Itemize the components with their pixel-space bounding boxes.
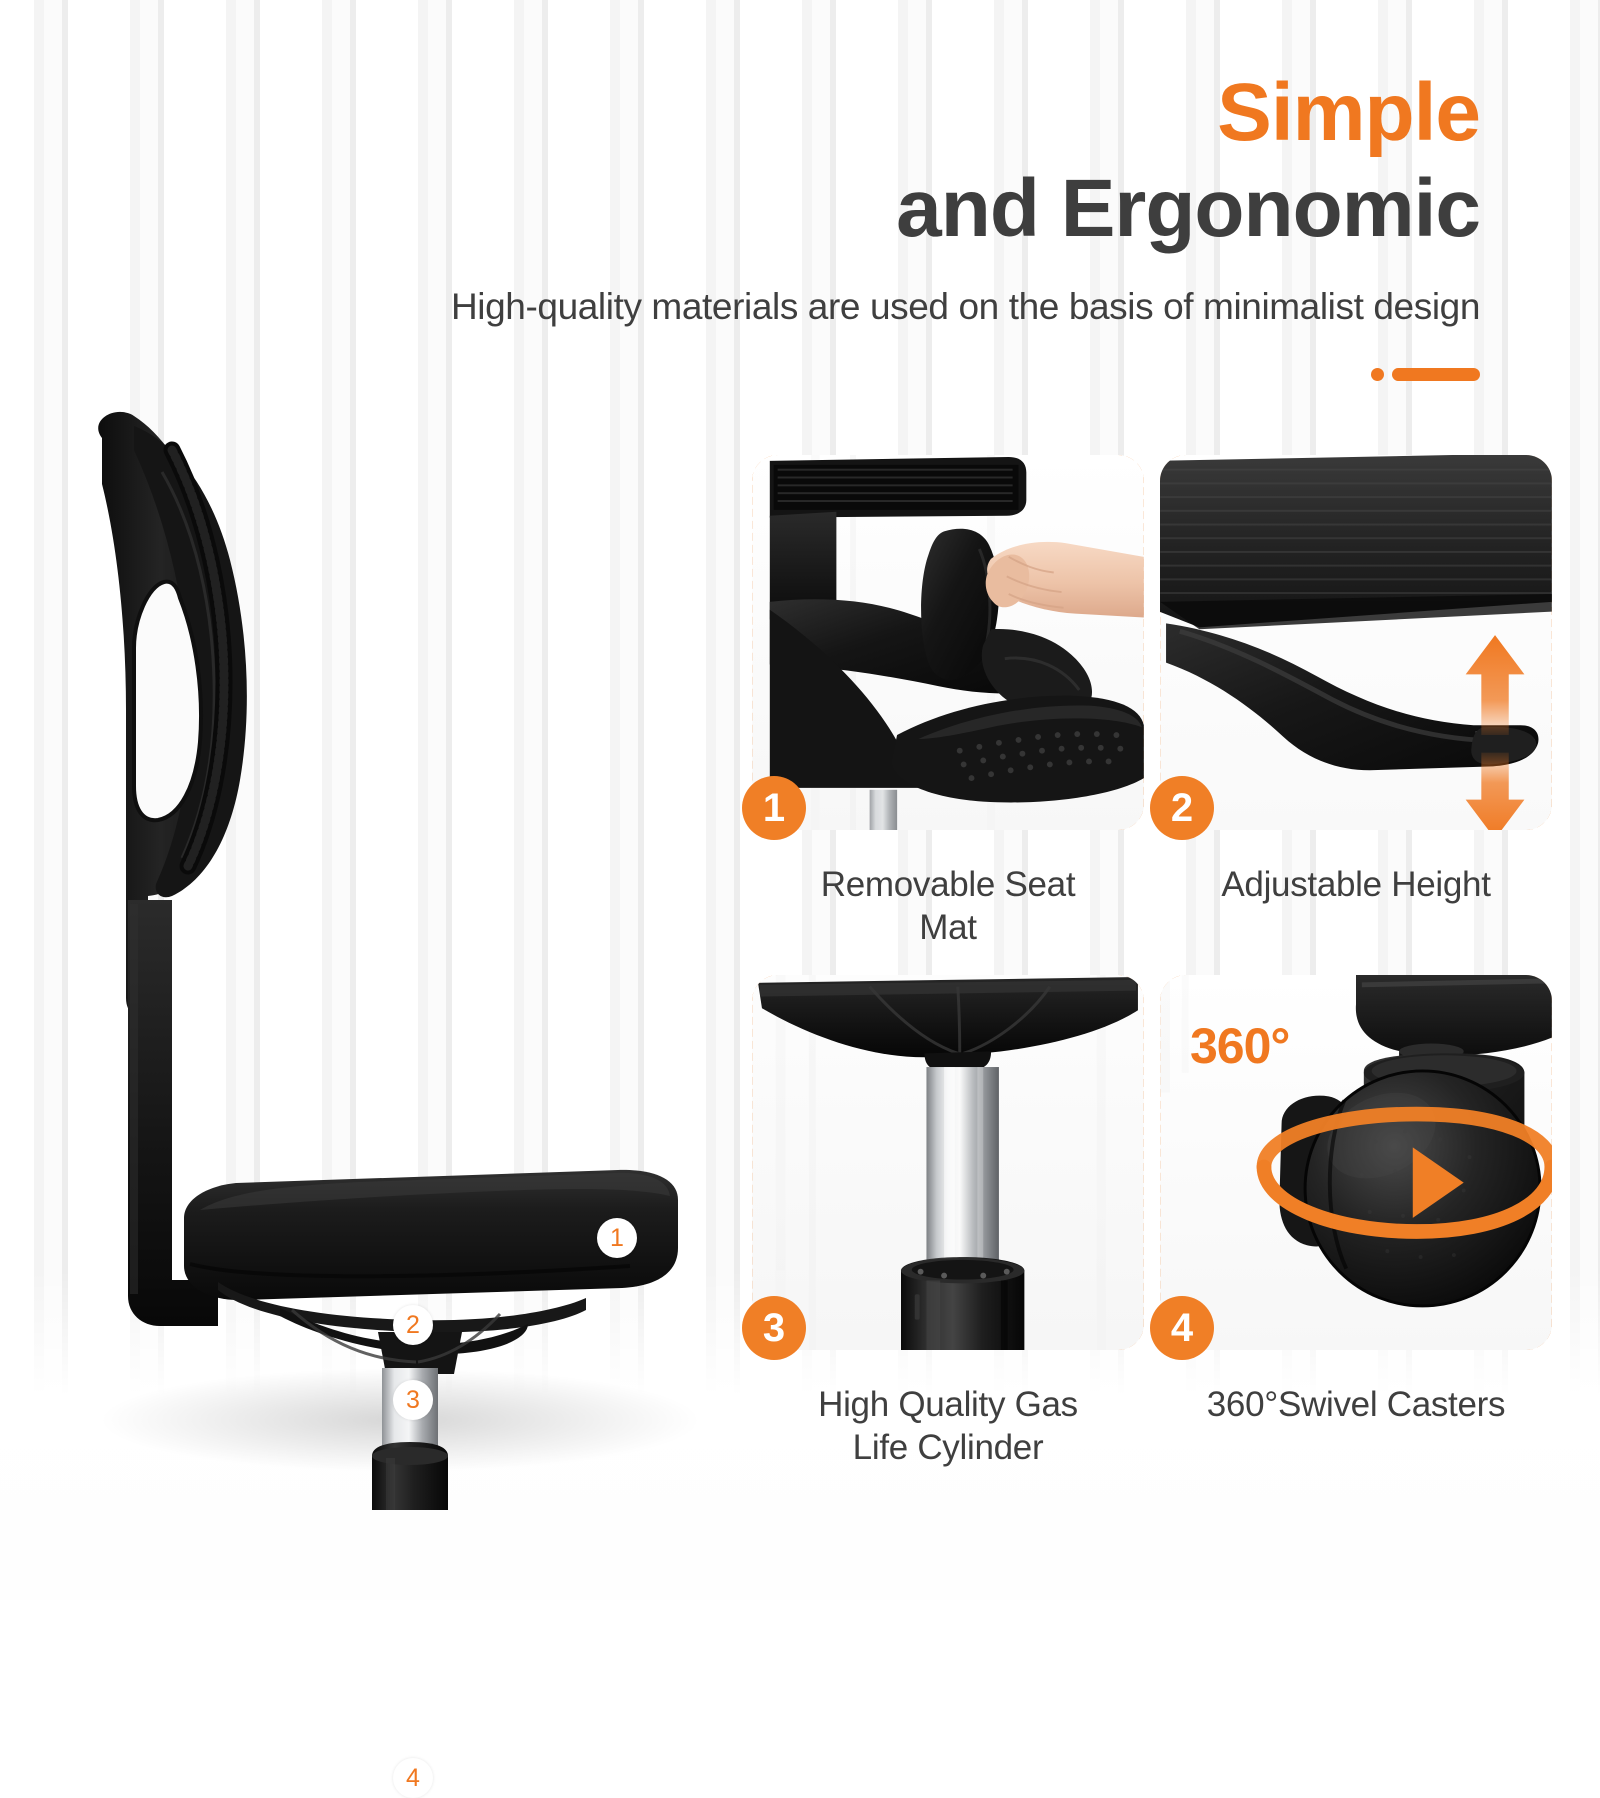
feature-badge-3: 3 xyxy=(742,1296,806,1360)
feature-card-gas-cylinder[interactable]: 3 High Quality Gas Life Cylinder xyxy=(752,975,1144,1469)
chair-callout-1: 1 xyxy=(597,1218,637,1258)
feature-photo-frame: 2 xyxy=(1160,455,1552,830)
feature-card-adjustable-height[interactable]: 2 Adjustable Height xyxy=(1160,455,1552,907)
feature-badge-1: 1 xyxy=(742,776,806,840)
feature-photo-height-adjust-lever xyxy=(1160,455,1552,830)
feature-photo-hand-peeling-seat-mat xyxy=(752,455,1144,830)
feature-card-removable-seat-mat[interactable]: 1 Removable Seat Mat xyxy=(752,455,1144,949)
accent-dot-icon xyxy=(1371,368,1384,381)
page-subtitle: High-quality materials are used on the b… xyxy=(0,286,1600,328)
chair-callout-4: 4 xyxy=(393,1758,433,1798)
feature-label-1: Removable Seat Mat xyxy=(752,864,1144,949)
feature-photo-frame: 360° 4 xyxy=(1160,975,1552,1350)
header: Simple and Ergonomic High-quality materi… xyxy=(0,0,1600,420)
feature-card-swivel-casters[interactable]: 360° 4 360°Swivel Casters xyxy=(1160,975,1552,1427)
feature-label-4: 360°Swivel Casters xyxy=(1160,1384,1552,1427)
feature-photo-chrome-gas-cylinder xyxy=(752,975,1144,1350)
accent-rule xyxy=(1371,368,1480,381)
feature-label-3: High Quality Gas Life Cylinder xyxy=(752,1384,1144,1469)
feature-grid: 1 Removable Seat Mat xyxy=(752,455,1552,1515)
product-chair-illustration: 1 2 3 4 xyxy=(30,380,750,1510)
page-title-accent: Simple xyxy=(0,72,1600,154)
feature-photo-frame: 1 xyxy=(752,455,1144,830)
degree-360-label: 360° xyxy=(1190,1017,1289,1075)
feature-label-2: Adjustable Height xyxy=(1160,864,1552,907)
feature-photo-frame: 3 xyxy=(752,975,1144,1350)
feature-badge-4: 4 xyxy=(1150,1296,1214,1360)
accent-bar-icon xyxy=(1392,368,1480,381)
page-title-main: and Ergonomic xyxy=(0,168,1600,250)
chair-callout-3: 3 xyxy=(393,1380,433,1420)
feature-badge-2: 2 xyxy=(1150,776,1214,840)
chair-callout-2: 2 xyxy=(393,1305,433,1345)
